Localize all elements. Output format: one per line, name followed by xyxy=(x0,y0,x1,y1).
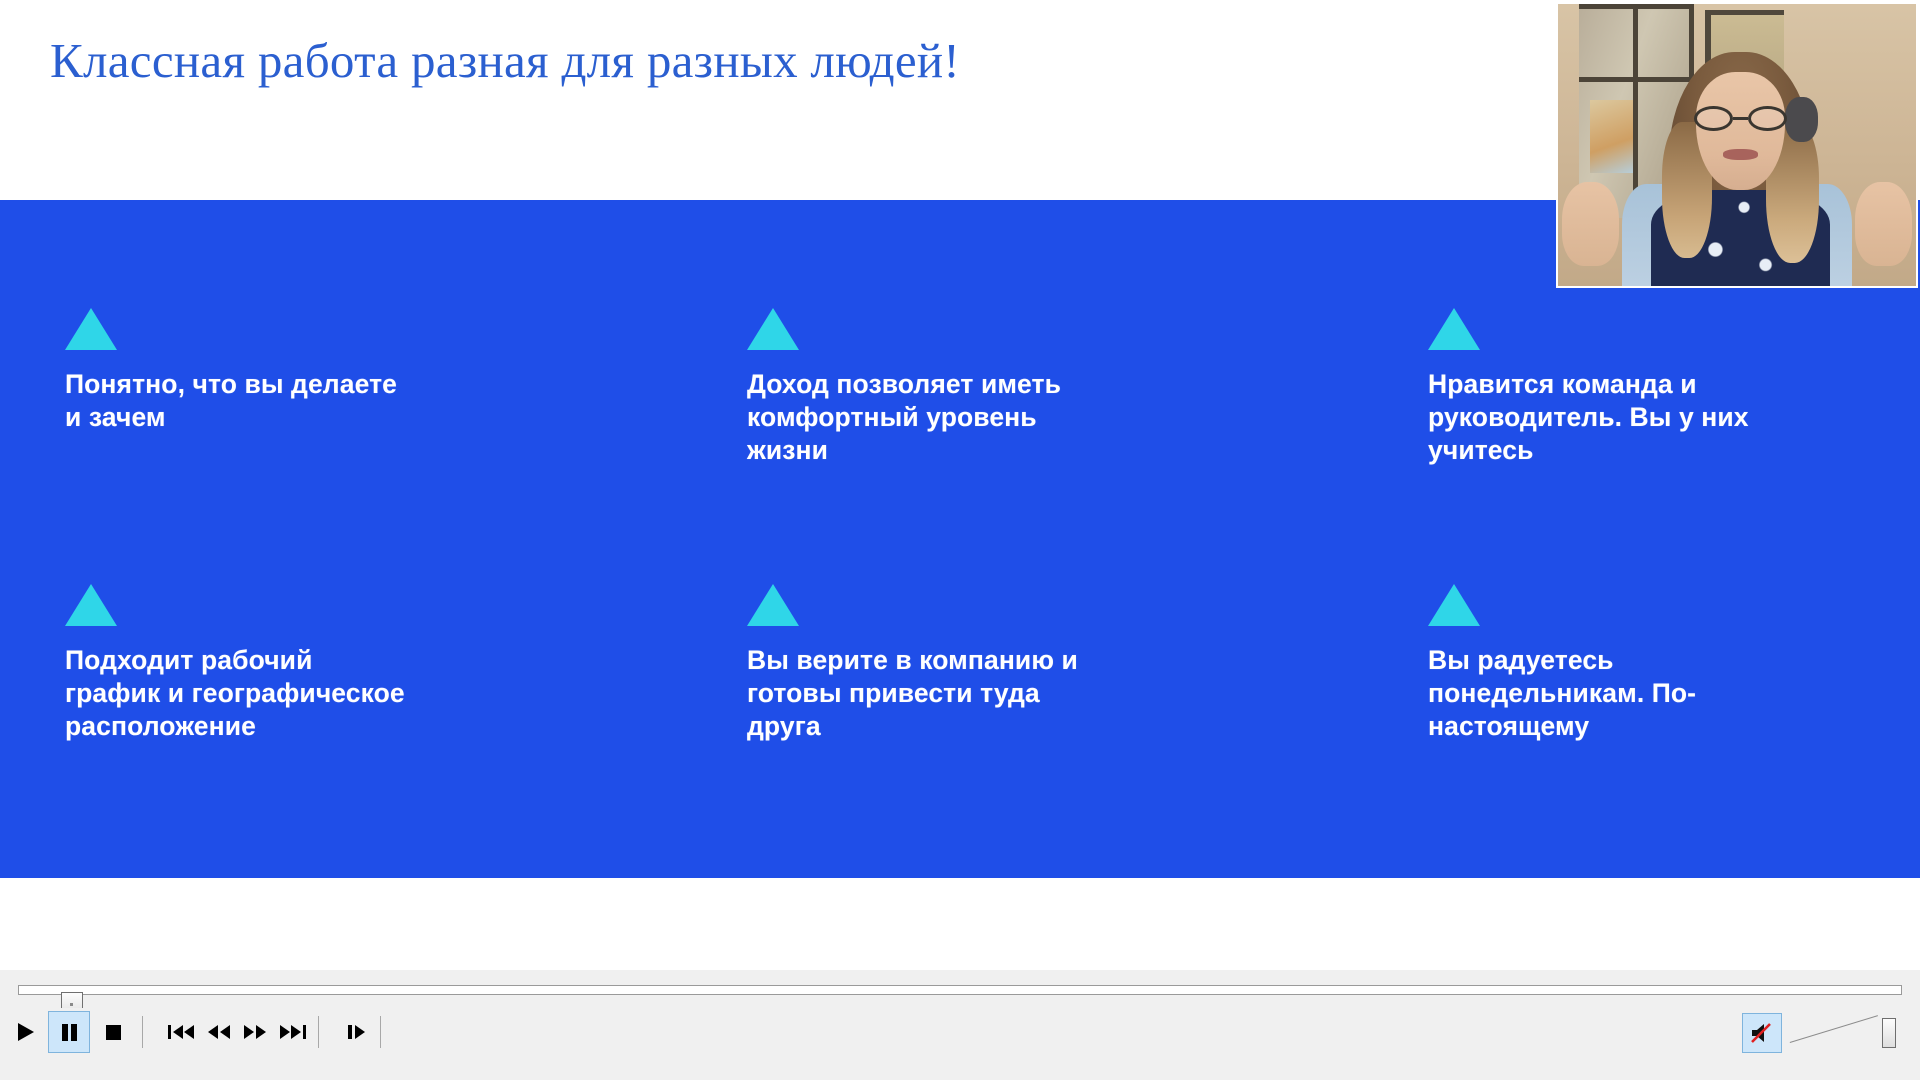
card-text: Понятно, что вы делаете и зачем xyxy=(65,368,495,434)
skip-back-button[interactable] xyxy=(160,1011,202,1053)
card-text: Доход позволяет иметь комфортный уровень… xyxy=(747,368,1177,467)
slide-blue-panel: Понятно, что вы делаете и зачем Доход по… xyxy=(0,200,1920,878)
volume-controls xyxy=(1680,1010,1910,1056)
slide-video-area[interactable]: Классная работа разная для разных людей!… xyxy=(0,0,1920,970)
webcam-overlay xyxy=(1556,2,1918,288)
list-item: Понятно, что вы делаете и зачем xyxy=(65,308,495,434)
speaker-hand-right xyxy=(1855,182,1912,267)
card-text: Вы верите в компанию и готовы привести т… xyxy=(747,644,1177,743)
triangle-marker-icon xyxy=(1428,308,1480,350)
stop-button[interactable] xyxy=(92,1011,134,1053)
triangle-marker-icon xyxy=(65,584,117,626)
fast-forward-button[interactable] xyxy=(234,1011,276,1053)
transport-controls xyxy=(0,1008,1920,1056)
triangle-marker-icon xyxy=(747,584,799,626)
background-poster xyxy=(1590,100,1633,173)
fast-forward-icon xyxy=(241,1021,269,1043)
list-item: Доход позволяет иметь комфортный уровень… xyxy=(747,308,1177,467)
skip-back-icon xyxy=(166,1021,196,1043)
play-button[interactable] xyxy=(4,1011,46,1053)
headphone-icon xyxy=(1785,97,1817,142)
speaker-muted-icon xyxy=(1749,1021,1775,1045)
volume-track xyxy=(1790,1015,1878,1043)
list-item: Вы радуетесь понедельникам. По- настояще… xyxy=(1428,584,1828,743)
glasses-lens-right xyxy=(1748,106,1787,131)
frame-step-button[interactable] xyxy=(336,1011,378,1053)
skip-forward-icon xyxy=(278,1021,308,1043)
glasses-bridge xyxy=(1733,117,1748,120)
frame-step-icon xyxy=(344,1021,370,1043)
divider xyxy=(142,1016,143,1048)
card-grid: Понятно, что вы делаете и зачем Доход по… xyxy=(0,200,1920,878)
stop-icon xyxy=(102,1021,124,1043)
divider xyxy=(318,1016,319,1048)
speaker-hand-left xyxy=(1562,182,1619,267)
play-icon xyxy=(14,1021,36,1043)
list-item: Вы верите в компанию и готовы привести т… xyxy=(747,584,1177,743)
volume-slider[interactable] xyxy=(1790,1014,1900,1052)
list-item: Нравится команда и руководитель. Вы у ни… xyxy=(1428,308,1828,467)
player-controls-bar: Пауза [H/W] 00:02:11 / 01:27:38 ⦂◀⦂ xyxy=(0,970,1920,1080)
media-player-window: Классная работа разная для разных людей!… xyxy=(0,0,1920,1080)
volume-slider-thumb[interactable] xyxy=(1882,1018,1896,1048)
glasses-icon xyxy=(1694,106,1787,131)
card-text: Подходит рабочий график и географическое… xyxy=(65,644,495,743)
divider xyxy=(380,1016,381,1048)
list-item: Подходит рабочий график и географическое… xyxy=(65,584,495,743)
mute-button[interactable] xyxy=(1742,1013,1782,1053)
pause-icon xyxy=(58,1021,80,1043)
triangle-marker-icon xyxy=(65,308,117,350)
triangle-marker-icon xyxy=(747,308,799,350)
skip-forward-button[interactable] xyxy=(272,1011,314,1053)
rewind-icon xyxy=(205,1021,233,1043)
triangle-marker-icon xyxy=(1428,584,1480,626)
seek-row xyxy=(0,970,1920,1008)
card-text: Вы радуетесь понедельникам. По- настояще… xyxy=(1428,644,1828,743)
page-title: Классная работа разная для разных людей! xyxy=(50,32,960,89)
seek-slider[interactable] xyxy=(18,985,1902,995)
speaker-mouth xyxy=(1723,149,1759,160)
webcam-scene xyxy=(1558,4,1916,286)
card-text: Нравится команда и руководитель. Вы у ни… xyxy=(1428,368,1828,467)
glasses-lens-left xyxy=(1694,106,1733,131)
pause-button[interactable] xyxy=(48,1011,90,1053)
